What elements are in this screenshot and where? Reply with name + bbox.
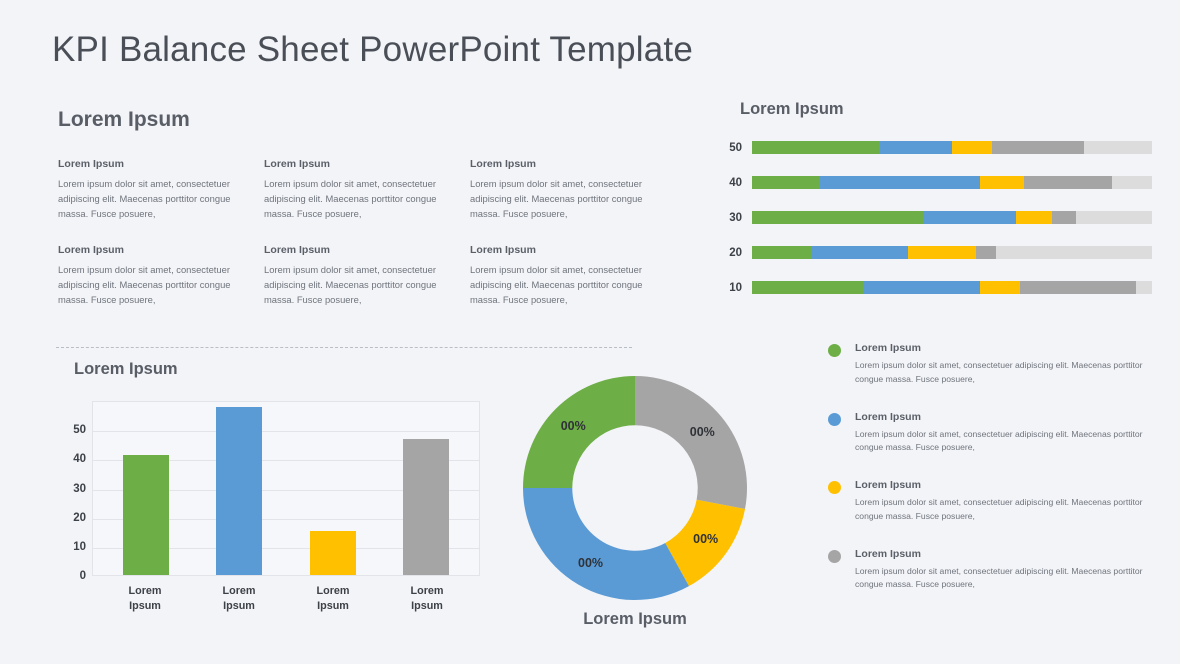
legend-item-title: Lorem Ipsum (855, 411, 1158, 423)
text-cell-title: Lorem Ipsum (58, 244, 238, 256)
stacked-bar-segment (752, 176, 820, 189)
text-cell-title: Lorem Ipsum (470, 244, 650, 256)
text-cell-title: Lorem Ipsum (264, 158, 444, 170)
stacked-bar-row-label: 10 (712, 282, 742, 294)
legend-item-title: Lorem Ipsum (855, 548, 1158, 560)
y-axis-tick-label: 50 (73, 424, 86, 436)
x-axis-tick-label: Lorem Ipsum (310, 584, 356, 613)
text-cell-body: Lorem ipsum dolor sit amet, consectetuer… (264, 176, 444, 222)
stacked-bar-segment (752, 246, 812, 259)
stacked-bar-segment (752, 141, 880, 154)
x-axis-labels: Lorem IpsumLorem IpsumLorem IpsumLorem I… (92, 576, 480, 613)
bar (403, 439, 449, 575)
dashed-divider (56, 347, 632, 348)
stacked-bar-rows: 5040302010 (712, 141, 1152, 294)
legend-color-dot-icon (828, 481, 841, 494)
stacked-bar-segment (1084, 141, 1152, 154)
text-cell-body: Lorem ipsum dolor sit amet, consectetuer… (470, 176, 650, 222)
bar-column (123, 455, 169, 575)
stacked-bar-track (752, 246, 1152, 259)
stacked-bar-row: 10 (712, 281, 1152, 294)
stacked-bar-segment (1136, 281, 1152, 294)
legend-color-dot-icon (828, 413, 841, 426)
bar (123, 455, 169, 575)
stacked-bar-row-label: 50 (712, 142, 742, 154)
text-cell-body: Lorem ipsum dolor sit amet, consectetuer… (470, 262, 650, 308)
donut-svg (515, 368, 755, 608)
stacked-bar-segment (1016, 211, 1052, 224)
legend-item: Lorem IpsumLorem ipsum dolor sit amet, c… (828, 342, 1158, 387)
legend-text: Lorem IpsumLorem ipsum dolor sit amet, c… (855, 548, 1158, 593)
legend-item: Lorem IpsumLorem ipsum dolor sit amet, c… (828, 479, 1158, 524)
donut-slice-label: 00% (578, 556, 603, 570)
stacked-bar-chart-title: Lorem Ipsum (740, 100, 1152, 119)
stacked-bar-row: 30 (712, 211, 1152, 224)
legend-item-title: Lorem Ipsum (855, 479, 1158, 491)
y-axis-tick-label: 10 (73, 541, 86, 553)
stacked-bar-segment (996, 246, 1152, 259)
bar-column (216, 407, 262, 575)
stacked-bar-segment (908, 246, 976, 259)
donut-slice-label: 00% (693, 532, 718, 546)
stacked-bar-segment (820, 176, 980, 189)
stacked-bar-segment (1052, 211, 1076, 224)
bar-column (310, 531, 356, 575)
text-cell: Lorem Ipsum Lorem ipsum dolor sit amet, … (470, 158, 676, 222)
donut-slice (523, 488, 689, 600)
stacked-bar-segment (1024, 176, 1112, 189)
stacked-bar-track (752, 176, 1152, 189)
text-cell-title: Lorem Ipsum (58, 158, 238, 170)
bar (216, 407, 262, 575)
y-axis-tick-label: 30 (73, 483, 86, 495)
donut-chart: 00%00%00%00% Lorem Ipsum (505, 360, 765, 629)
legend-item-body: Lorem ipsum dolor sit amet, consectetuer… (855, 359, 1158, 387)
bars-layer (93, 402, 479, 575)
chart-legend: Lorem IpsumLorem ipsum dolor sit amet, c… (828, 342, 1158, 616)
text-cell: Lorem Ipsum Lorem ipsum dolor sit amet, … (264, 158, 470, 222)
legend-item-body: Lorem ipsum dolor sit amet, consectetuer… (855, 565, 1158, 593)
legend-item: Lorem IpsumLorem ipsum dolor sit amet, c… (828, 548, 1158, 593)
stacked-bar-row: 20 (712, 246, 1152, 259)
left-section-heading: Lorem Ipsum (58, 108, 678, 132)
page-title: KPI Balance Sheet PowerPoint Template (52, 30, 693, 70)
legend-item: Lorem IpsumLorem ipsum dolor sit amet, c… (828, 411, 1158, 456)
plot-region (92, 401, 480, 576)
x-axis-tick-label: Lorem Ipsum (404, 584, 450, 613)
text-cell: Lorem Ipsum Lorem ipsum dolor sit amet, … (58, 244, 264, 308)
stacked-bar-segment (880, 141, 952, 154)
left-text-section: Lorem Ipsum Lorem Ipsum Lorem ipsum dolo… (58, 108, 678, 329)
column-chart-plot-area: 01020304050 (60, 401, 480, 576)
legend-item-title: Lorem Ipsum (855, 342, 1158, 354)
stacked-bar-row-label: 20 (712, 247, 742, 259)
stacked-bar-segment (980, 176, 1024, 189)
stacked-bar-segment (752, 211, 924, 224)
stacked-bar-segment (1020, 281, 1136, 294)
stacked-bar-row: 50 (712, 141, 1152, 154)
x-axis-tick-label: Lorem Ipsum (122, 584, 168, 613)
stacked-bar-row-label: 30 (712, 212, 742, 224)
stacked-bar-track (752, 141, 1152, 154)
legend-text: Lorem IpsumLorem ipsum dolor sit amet, c… (855, 411, 1158, 456)
stacked-bar-segment (976, 246, 996, 259)
stacked-bar-track (752, 281, 1152, 294)
y-axis: 01020304050 (60, 401, 92, 576)
bar (310, 531, 356, 575)
column-chart-title: Lorem Ipsum (74, 360, 480, 379)
donut-slice-label: 00% (561, 419, 586, 433)
text-cell: Lorem Ipsum Lorem ipsum dolor sit amet, … (264, 244, 470, 308)
legend-item-body: Lorem ipsum dolor sit amet, consectetuer… (855, 428, 1158, 456)
stacked-bar-segment (980, 281, 1020, 294)
bar-column (403, 439, 449, 575)
stacked-bar-segment (924, 211, 1016, 224)
legend-color-dot-icon (828, 344, 841, 357)
text-cell-body: Lorem ipsum dolor sit amet, consectetuer… (58, 176, 238, 222)
text-cell-body: Lorem ipsum dolor sit amet, consectetuer… (58, 262, 238, 308)
slide-canvas: KPI Balance Sheet PowerPoint Template Lo… (0, 0, 1180, 664)
stacked-bar-segment (1076, 211, 1152, 224)
text-cell-title: Lorem Ipsum (470, 158, 650, 170)
y-axis-tick-label: 40 (73, 453, 86, 465)
stacked-bar-track (752, 211, 1152, 224)
stacked-bar-segment (952, 141, 992, 154)
stacked-bar-segment (812, 246, 908, 259)
stacked-bar-row: 40 (712, 176, 1152, 189)
donut-graphic: 00%00%00%00% (515, 368, 755, 608)
legend-item-body: Lorem ipsum dolor sit amet, consectetuer… (855, 496, 1158, 524)
donut-chart-caption: Lorem Ipsum (505, 610, 765, 629)
y-axis-tick-label: 0 (80, 570, 86, 582)
x-axis-tick-label: Lorem Ipsum (216, 584, 262, 613)
stacked-bar-segment (992, 141, 1084, 154)
text-cell: Lorem Ipsum Lorem ipsum dolor sit amet, … (58, 158, 264, 222)
column-chart: Lorem Ipsum 01020304050 Lorem IpsumLorem… (60, 360, 480, 613)
donut-slice-label: 00% (690, 425, 715, 439)
stacked-bar-row-label: 40 (712, 177, 742, 189)
text-cell: Lorem Ipsum Lorem ipsum dolor sit amet, … (470, 244, 676, 308)
text-cell-grid: Lorem Ipsum Lorem ipsum dolor sit amet, … (58, 158, 678, 329)
y-axis-tick-label: 20 (73, 512, 86, 524)
text-cell-body: Lorem ipsum dolor sit amet, consectetuer… (264, 262, 444, 308)
stacked-bar-segment (864, 281, 980, 294)
legend-text: Lorem IpsumLorem ipsum dolor sit amet, c… (855, 479, 1158, 524)
stacked-bar-segment (752, 281, 864, 294)
legend-text: Lorem IpsumLorem ipsum dolor sit amet, c… (855, 342, 1158, 387)
text-cell-title: Lorem Ipsum (264, 244, 444, 256)
donut-slice (635, 376, 747, 509)
stacked-bar-segment (1112, 176, 1152, 189)
legend-color-dot-icon (828, 550, 841, 563)
stacked-bar-chart: Lorem Ipsum 5040302010 (712, 100, 1152, 316)
